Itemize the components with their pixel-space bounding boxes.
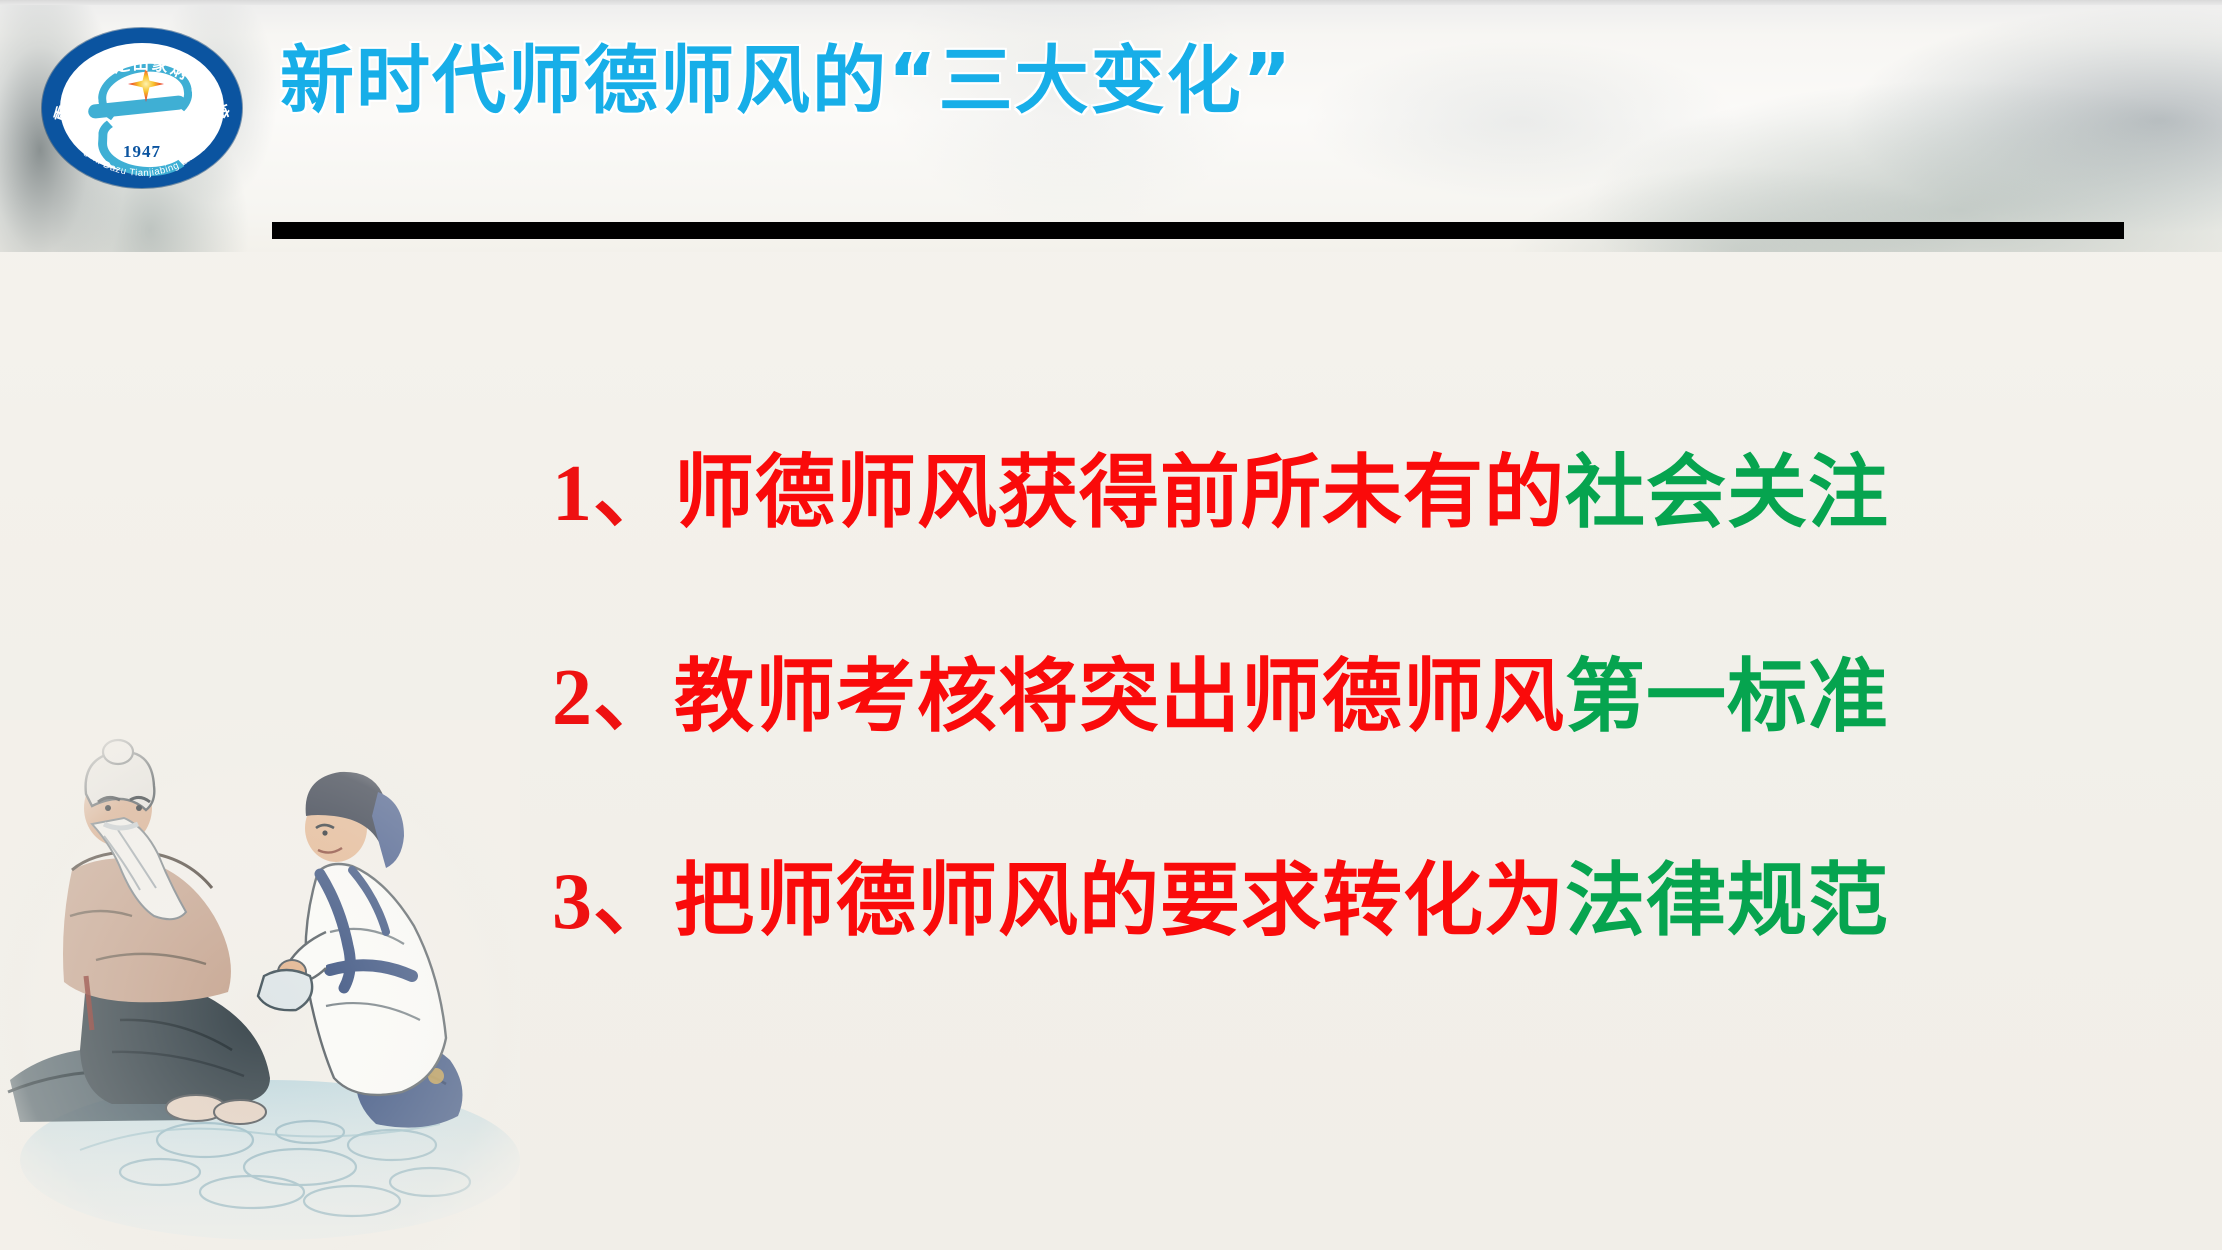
bullet-text-green-3: 法律规范 [1565, 858, 1889, 946]
bullet-item-2: 2、教师考核将突出师德师风第一标准 [552, 656, 2072, 740]
bullet-number-3: 3、 [552, 858, 674, 946]
emblem-star-icon [128, 66, 164, 102]
bullet-list: 1、师德师风获得前所未有的社会关注 2、教师考核将突出师德师风第一标准 3、把师… [552, 452, 2072, 944]
ink-painting-artwork [0, 720, 520, 1250]
bullet-item-3: 3、把师德师风的要求转化为法律规范 [552, 860, 2072, 944]
bullet-item-1: 1、师德师风获得前所未有的社会关注 [552, 452, 2072, 536]
emblem-founded-year: 1947 [42, 142, 242, 162]
title-underline-rule [272, 222, 2124, 239]
bullet-text-red-2: 教师考核将突出师德师风 [674, 654, 1565, 742]
teacher-and-disciple-ink-painting [0, 720, 520, 1250]
bullet-number-1: 1、 [552, 450, 674, 538]
bullet-text-green-1: 社会关注 [1565, 450, 1889, 538]
bullet-text-red-1: 师德师风获得前所未有的 [674, 450, 1565, 538]
school-emblem: 重庆市大足田家炳中学校 Chongqingshi Dazu Tianjiabin… [42, 28, 242, 188]
slide: 重庆市大足田家炳中学校 Chongqingshi Dazu Tianjiabin… [0, 0, 2222, 1250]
bullet-number-2: 2、 [552, 654, 674, 742]
bullet-text-red-3: 把师德师风的要求转化为 [674, 858, 1565, 946]
header-top-divider [0, 0, 2222, 5]
bullet-text-green-2: 第一标准 [1565, 654, 1889, 742]
page-title: 新时代师德师风的“三大变化” [280, 44, 1293, 118]
